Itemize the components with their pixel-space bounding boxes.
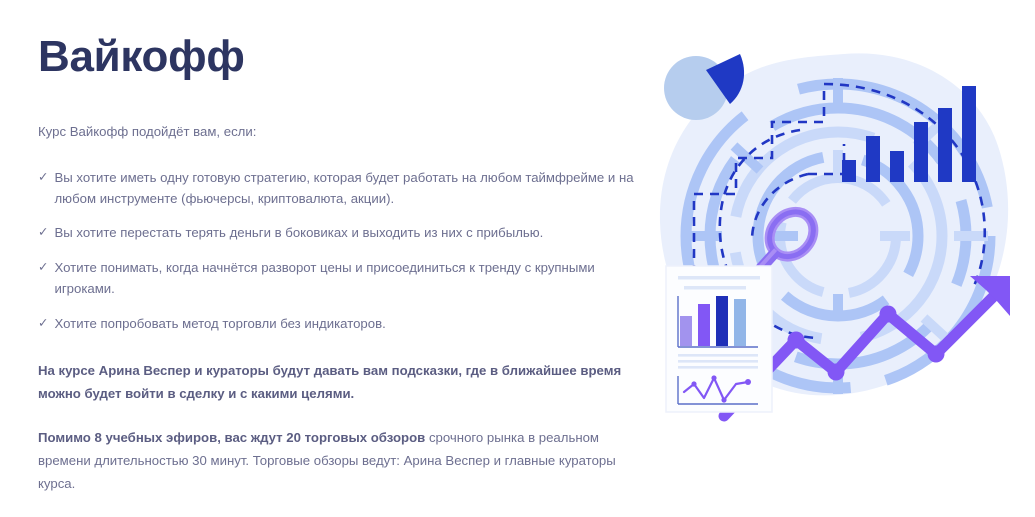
list-item-label: Вы хотите перестать терять деньги в боко… [54, 222, 648, 243]
maze-key-analytics-illustration [648, 18, 1035, 424]
benefits-check-list: ✓ Вы хотите иметь одну готовую стратегию… [38, 167, 648, 334]
list-item: ✓ Хотите попробовать метод торговли без … [38, 313, 648, 334]
report-card [666, 266, 772, 412]
page-root: Вайкофф Курс Вайкофф подойдёт вам, если:… [0, 0, 1035, 424]
check-icon: ✓ [38, 167, 48, 187]
list-item-label: Вы хотите иметь одну готовую стратегию, … [54, 167, 648, 210]
check-icon: ✓ [38, 257, 48, 277]
list-item-label: Хотите попробовать метод торговли без ин… [54, 313, 648, 334]
check-icon: ✓ [38, 222, 48, 242]
broadcasts-highlight: Помимо 8 учебных эфиров, вас ждут 20 тор… [38, 430, 425, 445]
list-item-label: Хотите понимать, когда начнётся разворот… [54, 257, 648, 300]
list-item: ✓ Вы хотите перестать терять деньги в бо… [38, 222, 648, 243]
mentors-paragraph: На курсе Арина Веспер и кураторы будут д… [38, 360, 648, 405]
page-title: Вайкофф [38, 34, 648, 80]
course-description-block: Вайкофф Курс Вайкофф подойдёт вам, если:… [38, 34, 648, 517]
list-item: ✓ Вы хотите иметь одну готовую стратегию… [38, 167, 648, 210]
broadcasts-paragraph: Помимо 8 учебных эфиров, вас ждут 20 тор… [38, 427, 648, 495]
list-item: ✓ Хотите понимать, когда начнётся развор… [38, 257, 648, 300]
intro-text: Курс Вайкофф подойдёт вам, если: [38, 122, 648, 142]
check-icon: ✓ [38, 313, 48, 333]
